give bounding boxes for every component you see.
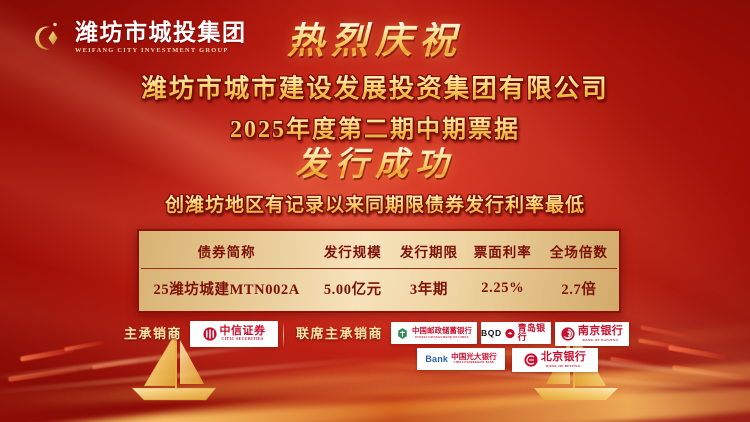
citic-name-en: CITIC SECURITIES [221,338,263,342]
success-title: 发行成功 [0,147,750,183]
citic-name-cn: 中信证券 [220,326,266,337]
column-header-subscription-multiple: 全场倍数 [541,233,617,269]
celebration-poster: 潍坊市城投集团 WEIFANG CITY INVESTMENT GROUP 热烈… [0,0,750,422]
beijing-bank-icon [524,353,538,367]
postal-savings-icon [396,327,409,340]
table-header-row: 债券简称 发行规模 发行期限 票面利率 全场倍数 [141,233,617,269]
psbc-name-cn: 中国邮政储蓄银行 [412,327,472,334]
logo-china-everbright-bank: Bank 中国光大银行 CHINA EVERBRIGHT BANK [417,348,505,370]
bqd-icon [505,328,515,339]
column-header-issue-scale: 发行规模 [312,233,393,269]
nanjing-name-en: BANK OF NANJING [583,339,619,342]
lead-underwriter-label: 主承销商 [124,323,182,345]
nanjing-rose-icon [561,327,575,341]
table-row: 25潍坊城建MTN002A 5.00亿元 3年期 2.25% 2.7倍 [141,269,617,310]
logo-bank-of-beijing: 北京银行 BANK OF BEIJING [512,348,598,372]
logo-postal-savings-bank: 中国邮政储蓄银行 POSTAL SAVINGS BANK OF CHINA [391,322,477,344]
logo-bank-of-nanjing: 南京银行 BANK OF NANJING [555,322,629,346]
cell-coupon-rate: 2.25% [465,269,541,310]
logo-citic-securities: 中信证券 CITIC SECURITIES [190,321,278,347]
column-header-bond-name: 债券简称 [141,233,312,269]
bqd-mark: BQD [481,328,502,338]
cell-issue-scale: 5.00亿元 [312,269,393,310]
subtitle-line: 创潍坊地区有记录以来同期限债券发行利率最低 [0,190,750,217]
beijing-name-en: BANK OF BEIJING [546,365,580,368]
cell-subscription-multiple: 2.7倍 [541,269,617,310]
bond-details-table: 债券简称 发行规模 发行期限 票面利率 全场倍数 25潍坊城建MTN002A 5… [137,229,621,313]
everbright-mark: Bank [425,354,448,364]
citic-circle-icon [203,327,217,341]
celebrate-title: 热烈庆祝 [0,22,750,62]
column-header-issue-term: 发行期限 [393,233,464,269]
cell-issue-term: 3年期 [393,269,464,310]
everbright-name-en: CHINA EVERBRIGHT BANK [454,362,495,365]
bqd-name-cn: 青岛银行 [518,324,551,342]
everbright-name-cn: 中国光大银行 [451,353,497,361]
beijing-name-cn: 北京银行 [541,352,586,363]
cell-bond-name: 25潍坊城建MTN002A [141,269,312,310]
issue-name-line: 2025年度第二期中期票据 [0,109,750,144]
logo-bank-of-qingdao: BQD 青岛银行 [481,322,551,344]
nanjing-name-cn: 南京银行 [578,326,623,337]
headline-block: 热烈庆祝 潍坊市城市建设发展投资集团有限公司 2025年度第二期中期票据 发行成… [0,22,750,217]
joint-underwriter-label: 联席主承销商 [296,323,383,345]
underwriters-section: 主承销商 中信证券 CITIC SECURITIES 联席主承销商 中国邮政储蓄… [0,323,750,379]
company-name-line: 潍坊市城市建设发展投资集团有限公司 [0,68,750,105]
section-divider [283,322,284,348]
column-header-coupon-rate: 票面利率 [465,233,541,269]
gold-wave [0,377,750,422]
psbc-name-en: POSTAL SAVINGS BANK OF CHINA [415,336,469,339]
